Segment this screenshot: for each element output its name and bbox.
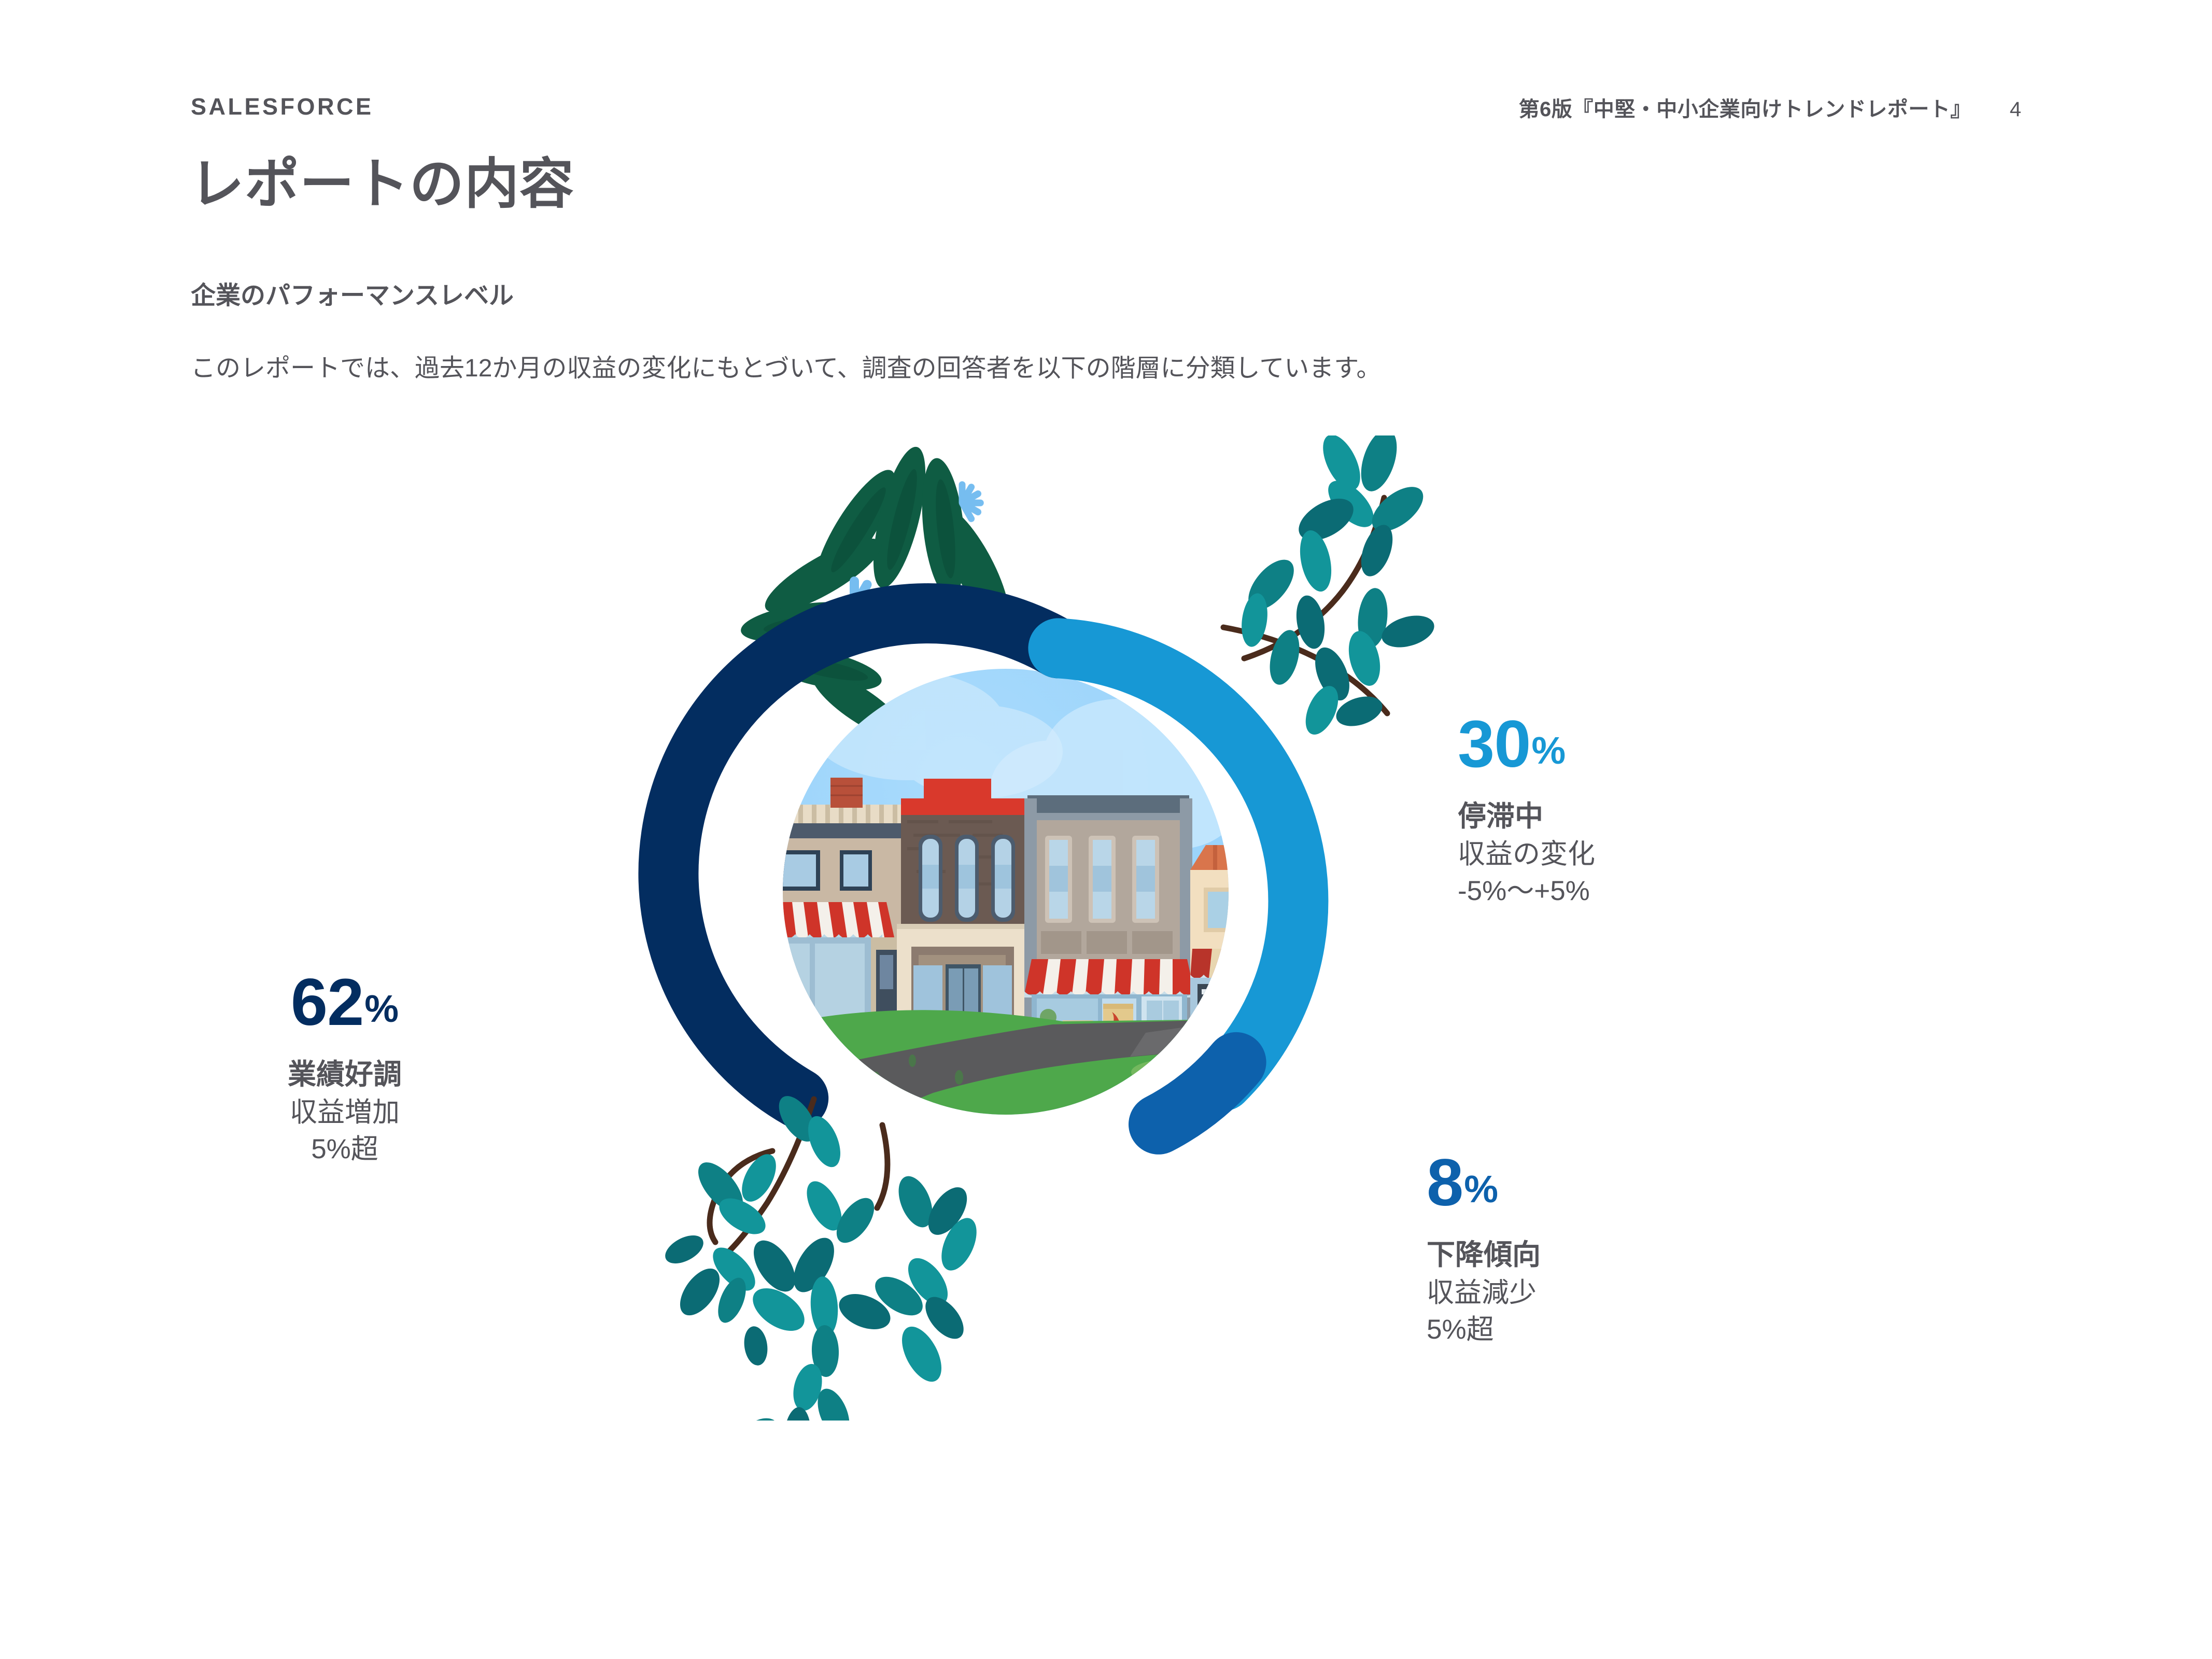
donut-segment-declining xyxy=(1159,1062,1236,1124)
stat-growing-percent: % xyxy=(364,990,399,1028)
awning-striped xyxy=(1024,959,1195,997)
vine-decoration-top-right xyxy=(1223,435,1438,739)
stat-stagnant-detail-1: 収益の変化 xyxy=(1458,836,1595,873)
page-number: 4 xyxy=(2010,98,2021,121)
vine-decoration-bottom-left xyxy=(660,1090,983,1421)
stat-declining-detail-1: 収益減少 xyxy=(1427,1274,1541,1311)
building-center-right xyxy=(1024,795,1195,1036)
awning-striped xyxy=(752,902,894,940)
stat-declining-value: 8 xyxy=(1427,1150,1463,1216)
stat-declining: 8% 下降傾向 収益減少 5%超 xyxy=(1427,1150,1541,1348)
body-paragraph: このレポートでは、過去12か月の収益の変化にもとづいて、調査の回答者を以下の階層… xyxy=(191,347,1381,384)
stat-declining-percent: % xyxy=(1464,1170,1498,1208)
salesforce-wordmark: SALESFORCE xyxy=(191,93,374,120)
stat-growing-label: 業績好調 xyxy=(259,1056,430,1094)
stat-growing: 62% 業績好調 収益増加 5%超 xyxy=(259,969,430,1168)
building-left xyxy=(752,778,902,1020)
stat-stagnant: 30% 停滞中 収益の変化 -5%〜+5% xyxy=(1458,711,1595,909)
stat-stagnant-percent: % xyxy=(1531,732,1566,770)
stat-stagnant-detail-2: -5%〜+5% xyxy=(1458,873,1595,909)
stat-growing-detail-2: 5%超 xyxy=(259,1131,430,1168)
stat-growing-value: 62 xyxy=(291,969,363,1036)
document-title: 第6版『中堅・中小企業向けトレンドレポート』 xyxy=(1519,92,1971,122)
header-right-group: 第6版『中堅・中小企業向けトレンドレポート』 4 xyxy=(1519,92,2022,122)
donut-illustration-graphic xyxy=(596,435,1519,1421)
section-subtitle: 企業のパフォーマンスレベル xyxy=(191,275,514,311)
page-title: レポートの内容 xyxy=(190,140,574,219)
stat-declining-detail-2: 5%超 xyxy=(1427,1311,1541,1348)
building-center-left xyxy=(897,779,1034,1027)
stat-stagnant-label: 停滞中 xyxy=(1458,797,1595,836)
stat-declining-label: 下降傾向 xyxy=(1427,1236,1541,1274)
stat-growing-detail-1: 収益増加 xyxy=(259,1094,430,1131)
slide-page: SALESFORCE 第6版『中堅・中小企業向けトレンドレポート』 4 レポート… xyxy=(0,0,2212,1659)
stat-stagnant-value: 30 xyxy=(1458,711,1530,778)
